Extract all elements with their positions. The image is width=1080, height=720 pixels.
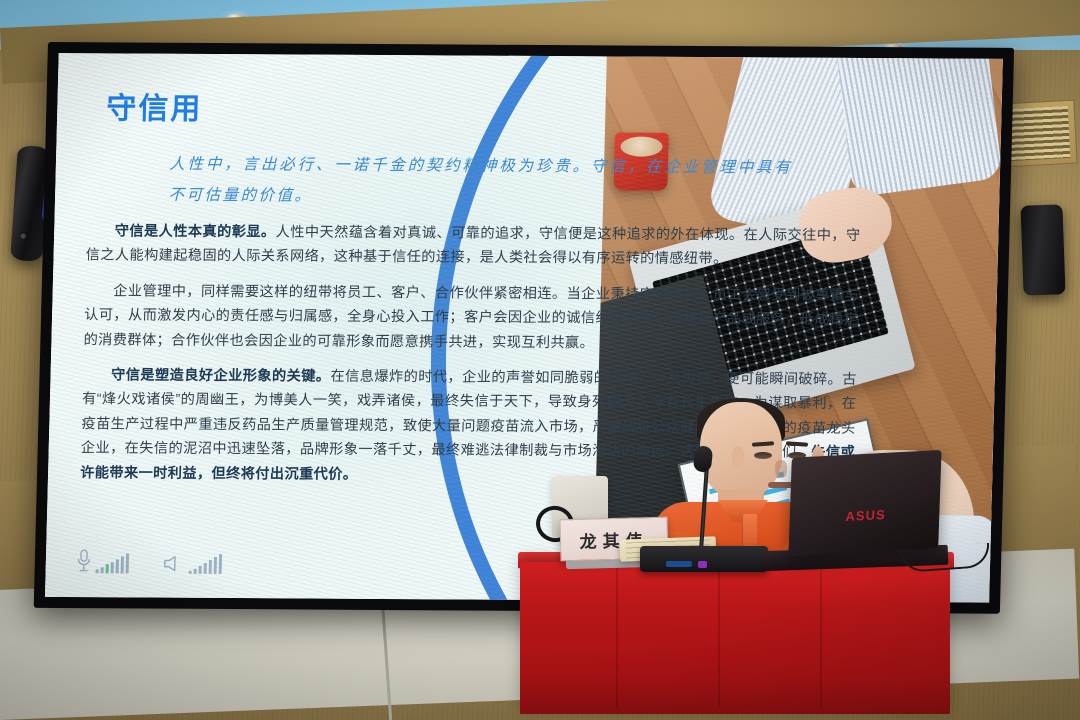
presenter-eyebrow [786,441,808,447]
presenter-ear [732,446,744,468]
microphone-level-meter [96,553,130,573]
slide-title: 守信用 [106,83,203,128]
mic-display-panel [666,561,692,567]
microphone-indicator [76,549,130,573]
microphone-base-unit[interactable] [640,546,768,572]
presenter-head [700,402,782,498]
speaker-indicator [163,553,223,573]
presenter-nose [775,460,787,478]
microphone-icon [76,549,93,573]
speaker-level-meter [189,553,223,573]
tablecloth-fold [820,558,822,708]
paragraph-text: 企业管理中，同样需要这样的纽带将员工、客户、合作伙伴紧密相连。当企业秉持守信原则… [83,283,859,351]
mic-status-led [698,561,707,568]
slide-subtitle: 人性中，言出必行、一诺千金的契约精神极为珍贵。守信，在企业管理中具有不可估量的价… [168,149,793,215]
speaker-icon [163,553,186,573]
conference-room-scene: 守信用 人性中，言出必行、一诺千金的契约精神极为珍贵。守信，在企业管理中具有不可… [0,0,1080,720]
paragraph-lead: 守信是人性本真的彰显。 [115,223,276,240]
laptop-brand-logo: ASUS [845,507,886,524]
laptop-lid[interactable]: ASUS [788,450,941,556]
paragraph-lead: 守信是塑造良好企业形象的关键。 [111,367,331,384]
slide-paragraph: 企业管理中，同样需要这样的纽带将员工、客户、合作伙伴紧密相连。当企业秉持守信原则… [83,279,859,357]
presenter-eye [754,452,772,459]
presenter-eyebrow [752,441,774,447]
wall-speaker-right [1020,204,1065,295]
red-tablecloth-desk [520,562,950,714]
speaker-led [21,233,26,238]
tablecloth-fold [616,558,618,708]
slide-paragraph: 守信是人性本真的彰显。人性中天然蕴含着对真诚、可靠的追求，守信便是这种追求的外在… [85,219,860,273]
slide-footer-icons [76,549,223,574]
tablecloth-fold [718,558,720,708]
